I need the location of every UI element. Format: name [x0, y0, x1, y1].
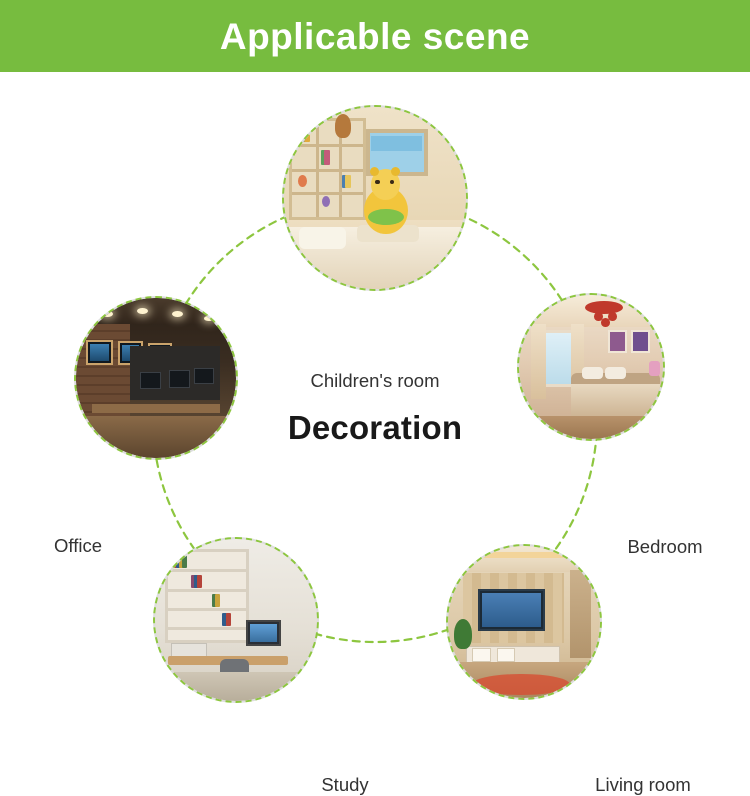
page-title: Applicable scene	[220, 18, 530, 55]
applicable-scene-infographic: Applicable scene Decoration	[0, 0, 750, 750]
bedroom-photo	[517, 293, 665, 441]
diagram-stage: Decoration	[0, 72, 750, 750]
node-label-childrens-room: Children's room	[282, 370, 468, 392]
office-photo	[74, 296, 238, 460]
living-room-photo	[446, 544, 602, 700]
node-label-office: Office	[0, 535, 156, 557]
node-label-living-room: Living room	[543, 774, 743, 796]
header-banner: Applicable scene	[0, 0, 750, 72]
node-label-study: Study	[245, 774, 445, 796]
childrens-room-photo	[282, 105, 468, 291]
center-label: Decoration	[205, 409, 545, 447]
study-photo	[153, 537, 319, 703]
